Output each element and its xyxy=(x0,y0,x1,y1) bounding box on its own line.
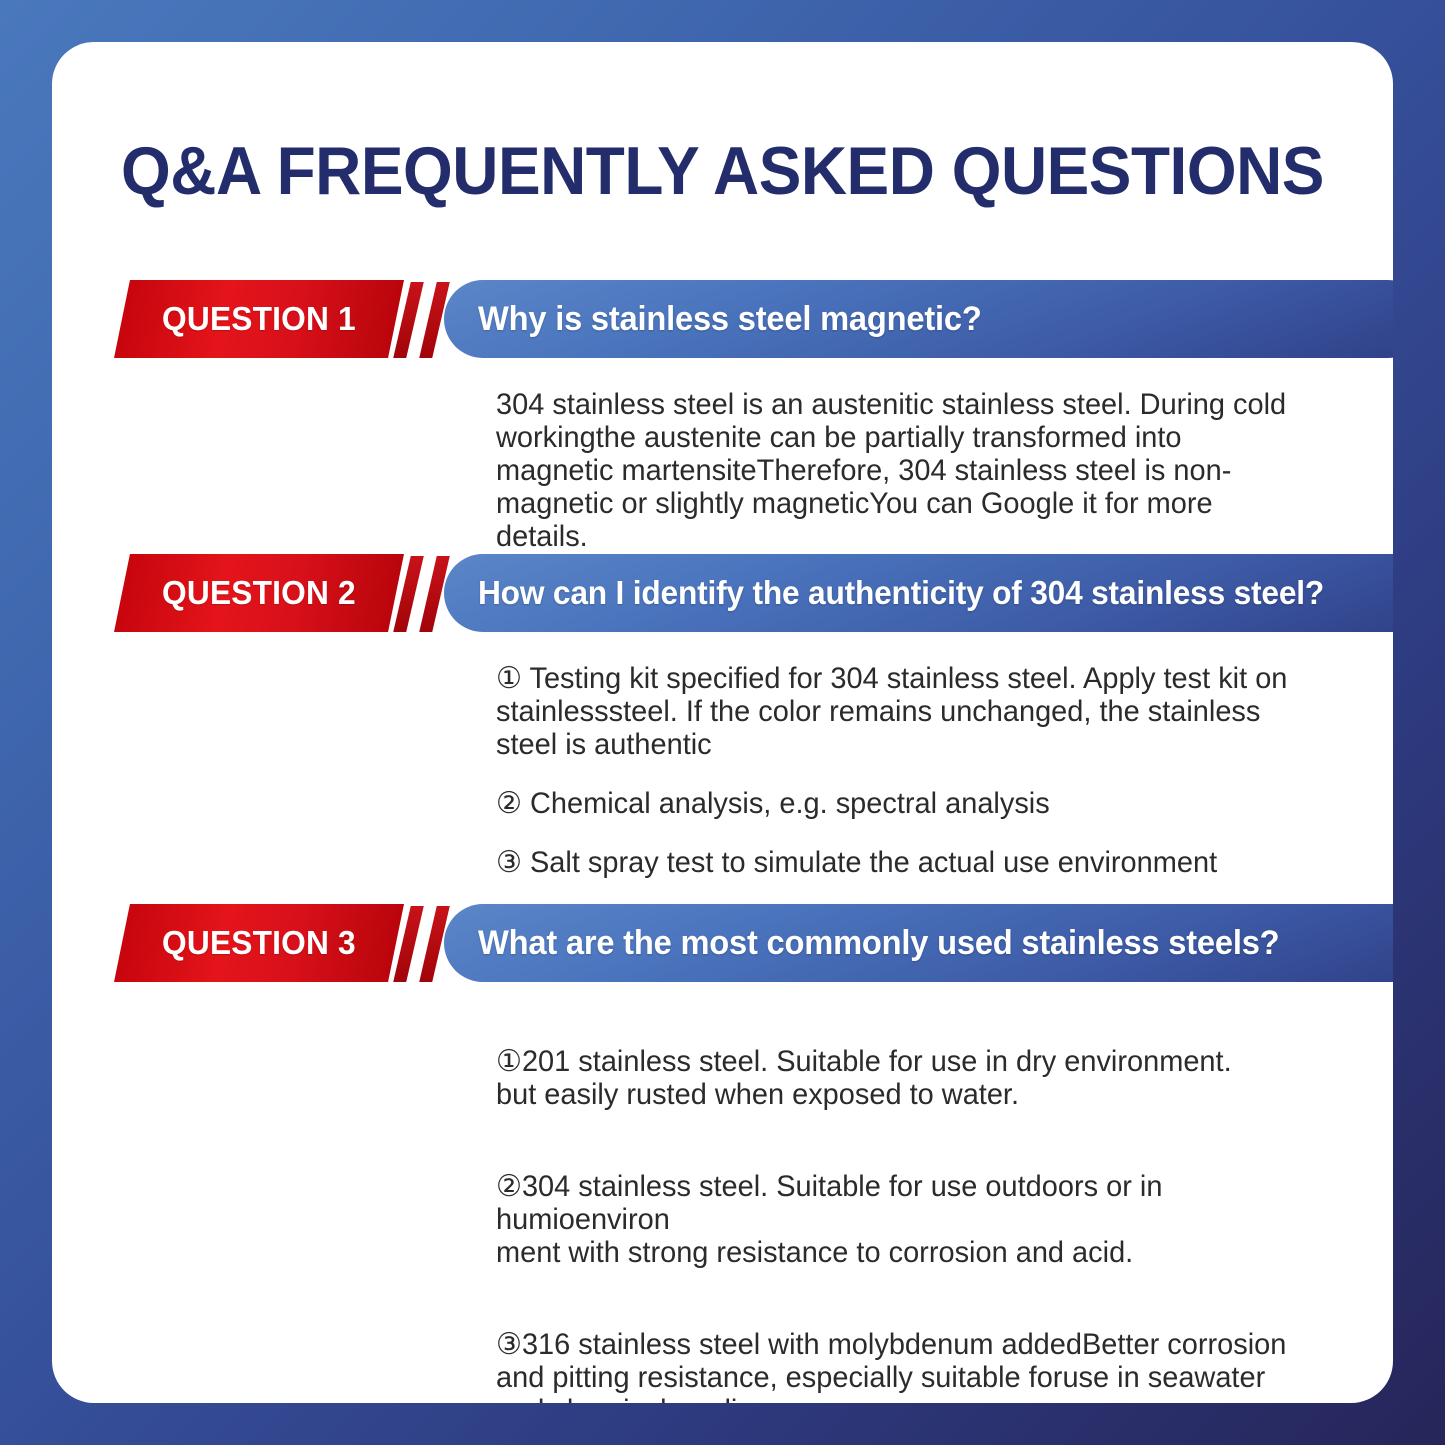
question-text: What are the most commonly used stainles… xyxy=(478,924,1279,963)
question-tag-label: QUESTION 3 xyxy=(162,924,356,962)
faq-item-1: QUESTION 1 Why is stainless steel magnet… xyxy=(52,280,1393,362)
question-tag-2[interactable]: QUESTION 2 xyxy=(114,554,404,632)
answer-paragraph: ② Chemical analysis, e.g. spectral analy… xyxy=(496,787,1289,820)
question-tag-label: QUESTION 2 xyxy=(162,574,356,612)
faq-item-3: QUESTION 3 What are the most commonly us… xyxy=(52,904,1393,986)
question-pill-1[interactable]: Why is stainless steel magnetic? xyxy=(444,280,1393,358)
question-pill-3[interactable]: What are the most commonly used stainles… xyxy=(444,904,1393,982)
answer-paragraph: ②304 stainless steel. Suitable for use o… xyxy=(496,1170,1289,1269)
page-title: Q&A FREQUENTLY ASKED QUESTIONS xyxy=(92,132,1353,210)
faq-header-3: QUESTION 3 What are the most commonly us… xyxy=(52,904,1393,986)
faq-header-2: QUESTION 2 How can I identify the authen… xyxy=(52,554,1393,636)
answer-body-3: ①201 stainless steel. Suitable for use i… xyxy=(496,1012,1289,1403)
question-tag-label: QUESTION 1 xyxy=(162,300,356,338)
answer-paragraph: ③316 stainless steel with molybdenum add… xyxy=(496,1328,1289,1403)
question-pill-2[interactable]: How can I identify the authenticity of 3… xyxy=(444,554,1393,632)
question-tag-1[interactable]: QUESTION 1 xyxy=(114,280,404,358)
answer-paragraph: ①201 stainless steel. Suitable for use i… xyxy=(496,1045,1289,1111)
answer-body-1: 304 stainless steel is an austenitic sta… xyxy=(496,388,1289,553)
question-text: Why is stainless steel magnetic? xyxy=(478,300,982,339)
question-tag-3[interactable]: QUESTION 3 xyxy=(114,904,404,982)
answer-paragraph: 304 stainless steel is an austenitic sta… xyxy=(496,388,1289,553)
page-background: Q&A FREQUENTLY ASKED QUESTIONS QUESTION … xyxy=(0,0,1445,1445)
faq-header-1: QUESTION 1 Why is stainless steel magnet… xyxy=(52,280,1393,362)
answer-body-2: ① Testing kit specified for 304 stainles… xyxy=(496,662,1289,879)
answer-paragraph: ③ Salt spray test to simulate the actual… xyxy=(496,846,1289,879)
question-text: How can I identify the authenticity of 3… xyxy=(478,574,1324,612)
answer-paragraph: ① Testing kit specified for 304 stainles… xyxy=(496,662,1289,761)
faq-item-2: QUESTION 2 How can I identify the authen… xyxy=(52,554,1393,636)
faq-card: Q&A FREQUENTLY ASKED QUESTIONS QUESTION … xyxy=(52,42,1393,1403)
